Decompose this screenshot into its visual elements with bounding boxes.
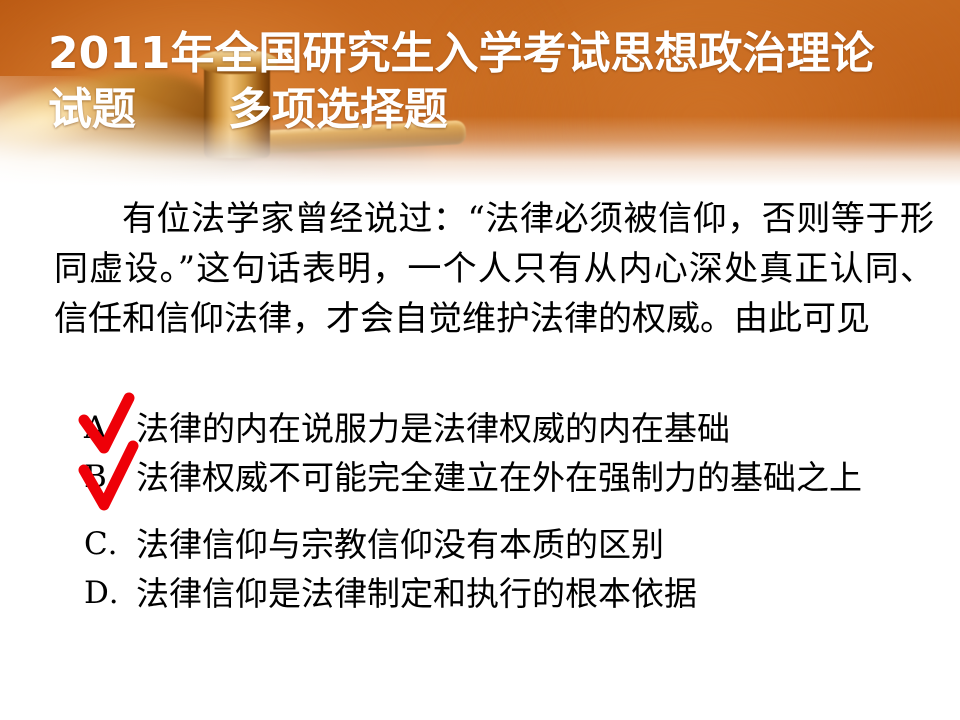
option-text-c: 法律信仰与宗教信仰没有本质的区别 [136, 520, 960, 569]
option-letter-c: C. [84, 520, 136, 569]
option-row-c[interactable]: C. 法律信仰与宗教信仰没有本质的区别 [84, 520, 960, 569]
question-stem: 有位法学家曾经说过：“法律必须被信仰，否则等于形同虚设。”这句话表明，一个人只有… [54, 194, 934, 344]
slide-title-line-2: 试题 多项选择题 [48, 84, 448, 135]
slide-title: 2011年全国研究生入学考试思想政治理论试题 多项选择题 [48, 26, 948, 138]
option-letter-b: B. [84, 453, 136, 502]
option-letter-d: D. [84, 569, 136, 618]
option-row-a[interactable]: A. 法律的内在说服力是法律权威的内在基础 [84, 404, 960, 453]
option-letter-a: A. [84, 404, 136, 453]
slide-body: 有位法学家曾经说过：“法律必须被信仰，否则等于形同虚设。”这句话表明，一个人只有… [0, 186, 960, 720]
options-list: A. 法律的内在说服力是法律权威的内在基础 B. 法律权威不可能完全建立在外在强… [84, 404, 960, 618]
option-text-a: 法律的内在说服力是法律权威的内在基础 [136, 404, 960, 453]
presentation-slide: 2011年全国研究生入学考试思想政治理论试题 多项选择题 有位法学家曾经说过：“… [0, 0, 960, 720]
option-text-b: 法律权威不可能完全建立在外在强制力的基础之上 [136, 453, 960, 502]
slide-title-line-1: 2011年全国研究生入学考试思想政治理论 [48, 28, 874, 79]
option-text-d: 法律信仰是法律制定和执行的根本依据 [136, 569, 960, 618]
option-row-b[interactable]: B. 法律权威不可能完全建立在外在强制力的基础之上 [84, 453, 960, 502]
option-row-d[interactable]: D. 法律信仰是法律制定和执行的根本依据 [84, 569, 960, 618]
slide-header-banner: 2011年全国研究生入学考试思想政治理论试题 多项选择题 [0, 0, 960, 186]
